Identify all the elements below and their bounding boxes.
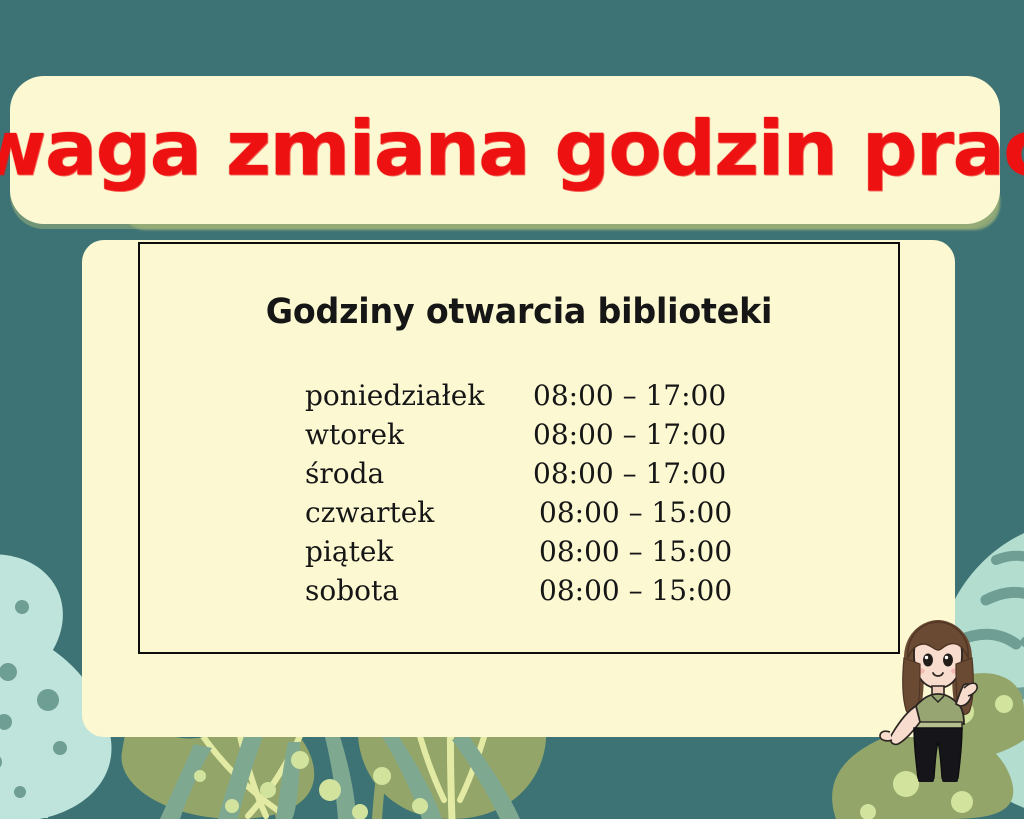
hours-value: 08:00 – 17:00 — [533, 415, 726, 454]
day-label: sobota — [305, 571, 399, 610]
day-label: środa — [305, 454, 384, 493]
day-label: wtorek — [305, 415, 404, 454]
sage-frond-leaf-group — [160, 724, 520, 819]
table-row: środa 08:00 – 17:00 — [305, 454, 765, 493]
girl-character-illustration — [878, 614, 998, 789]
opening-hours-list: poniedziałek 08:00 – 17:00 wtorek 08:00 … — [305, 376, 765, 610]
hours-value: 08:00 – 15:00 — [539, 532, 732, 571]
day-label: piątek — [305, 532, 393, 571]
day-label: czwartek — [305, 493, 434, 532]
table-row: piątek 08:00 – 15:00 — [305, 532, 765, 571]
schedule-heading: Godziny otwarcia biblioteki — [159, 292, 879, 332]
table-row: sobota 08:00 – 15:00 — [305, 571, 765, 610]
table-row: wtorek 08:00 – 17:00 — [305, 415, 765, 454]
table-row: poniedziałek 08:00 – 17:00 — [305, 376, 765, 415]
schedule-box: Godziny otwarcia biblioteki poniedziałek… — [138, 242, 900, 654]
hours-value: 08:00 – 17:00 — [533, 376, 726, 415]
poster-title: Uwaga zmiana godzin pracy — [0, 110, 1024, 186]
title-banner: Uwaga zmiana godzin pracy — [10, 76, 1000, 224]
hours-value: 08:00 – 15:00 — [539, 493, 732, 532]
poster-canvas: Uwaga zmiana godzin pracy Godziny otwarc… — [0, 0, 1024, 819]
day-label: poniedziałek — [305, 376, 484, 415]
table-row: czwartek 08:00 – 15:00 — [305, 493, 765, 532]
hours-value: 08:00 – 17:00 — [533, 454, 726, 493]
hours-value: 08:00 – 15:00 — [539, 571, 732, 610]
